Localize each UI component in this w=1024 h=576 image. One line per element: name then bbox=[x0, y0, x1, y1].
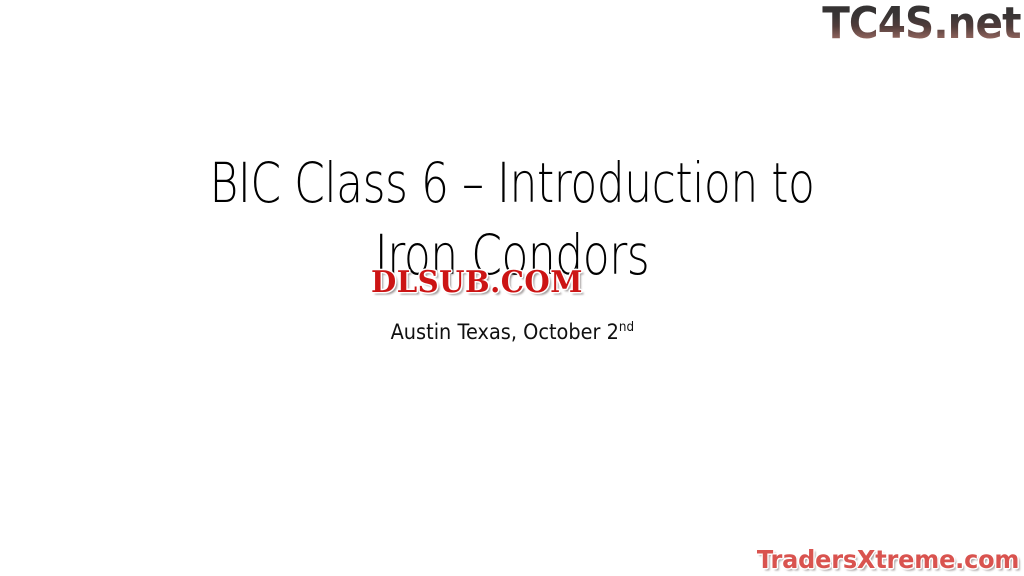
slide-subtitle: Austin Texas, October 2nd bbox=[390, 320, 633, 344]
subtitle-ordinal-suffix: nd bbox=[619, 320, 634, 335]
presentation-slide: TC4S.net BIC Class 6 – Introduction to I… bbox=[0, 0, 1024, 576]
watermark-tc4s-net: TC4S.net bbox=[823, 1, 1021, 47]
subtitle-main-text: Austin Texas, October 2 bbox=[390, 320, 618, 344]
subtitle-block: Austin Texas, October 2nd bbox=[72, 320, 952, 344]
watermark-dlsub-com: DLSUB.COM bbox=[371, 268, 583, 298]
watermark-tradersxtreme-com: TradersXtreme.com bbox=[757, 547, 1019, 572]
